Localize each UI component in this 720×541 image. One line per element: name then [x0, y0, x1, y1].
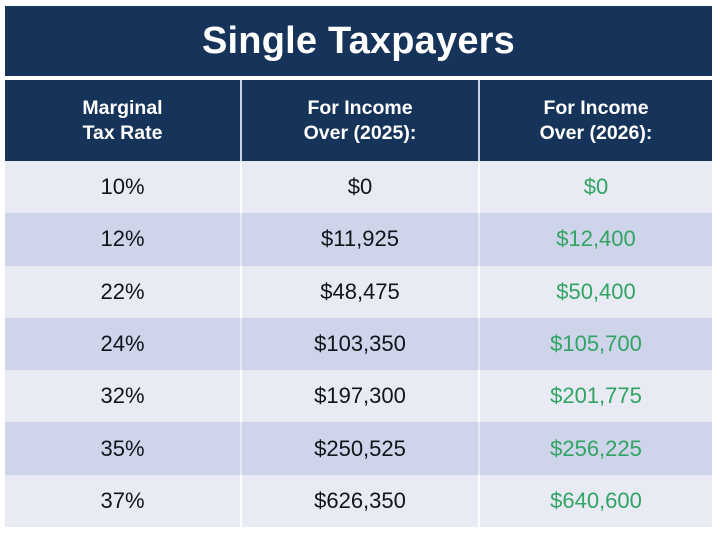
cell-income-2026: $201,775	[478, 370, 712, 422]
cell-income-2025: $103,350	[240, 318, 478, 370]
column-header-income-2025: For Income Over (2025):	[240, 80, 478, 161]
cell-tax-rate: 35%	[5, 422, 240, 474]
table-row: 37% $626,350 $640,600	[5, 475, 712, 527]
table-header-row: Marginal Tax Rate For Income Over (2025)…	[5, 80, 712, 161]
column-header-line2: Tax Rate	[83, 122, 163, 144]
table-title-band: Single Taxpayers	[5, 6, 712, 76]
table-row: 12% $11,925 $12,400	[5, 213, 712, 265]
cell-tax-rate: 24%	[5, 318, 240, 370]
cell-tax-rate: 22%	[5, 266, 240, 318]
cell-income-2025: $626,350	[240, 475, 478, 527]
column-header-line2: Over (2025):	[304, 122, 417, 144]
table-row: 24% $103,350 $105,700	[5, 318, 712, 370]
column-header-line2: Over (2026):	[540, 122, 653, 144]
cell-income-2025: $250,525	[240, 422, 478, 474]
cell-tax-rate: 32%	[5, 370, 240, 422]
column-header-line1: Marginal	[82, 97, 162, 119]
cell-income-2025: $0	[240, 161, 478, 213]
column-header-line1: For Income	[543, 97, 648, 119]
page-title: Single Taxpayers	[202, 22, 515, 60]
cell-income-2026: $0	[478, 161, 712, 213]
cell-income-2025: $197,300	[240, 370, 478, 422]
cell-income-2026: $640,600	[478, 475, 712, 527]
cell-income-2026: $50,400	[478, 266, 712, 318]
cell-income-2025: $48,475	[240, 266, 478, 318]
table-row: 10% $0 $0	[5, 161, 712, 213]
cell-tax-rate: 37%	[5, 475, 240, 527]
cell-income-2026: $256,225	[478, 422, 712, 474]
column-header-income-2026: For Income Over (2026):	[478, 80, 712, 161]
cell-income-2026: $105,700	[478, 318, 712, 370]
column-header-marginal-tax-rate: Marginal Tax Rate	[5, 80, 240, 161]
tax-bracket-table: Single Taxpayers Marginal Tax Rate For I…	[5, 6, 712, 527]
cell-income-2025: $11,925	[240, 213, 478, 265]
table-row: 22% $48,475 $50,400	[5, 266, 712, 318]
table-row: 35% $250,525 $256,225	[5, 422, 712, 474]
cell-income-2026: $12,400	[478, 213, 712, 265]
table-body: 10% $0 $0 12% $11,925 $12,400 22% $48,47…	[5, 161, 712, 527]
column-header-line1: For Income	[307, 97, 412, 119]
cell-tax-rate: 10%	[5, 161, 240, 213]
table-row: 32% $197,300 $201,775	[5, 370, 712, 422]
cell-tax-rate: 12%	[5, 213, 240, 265]
